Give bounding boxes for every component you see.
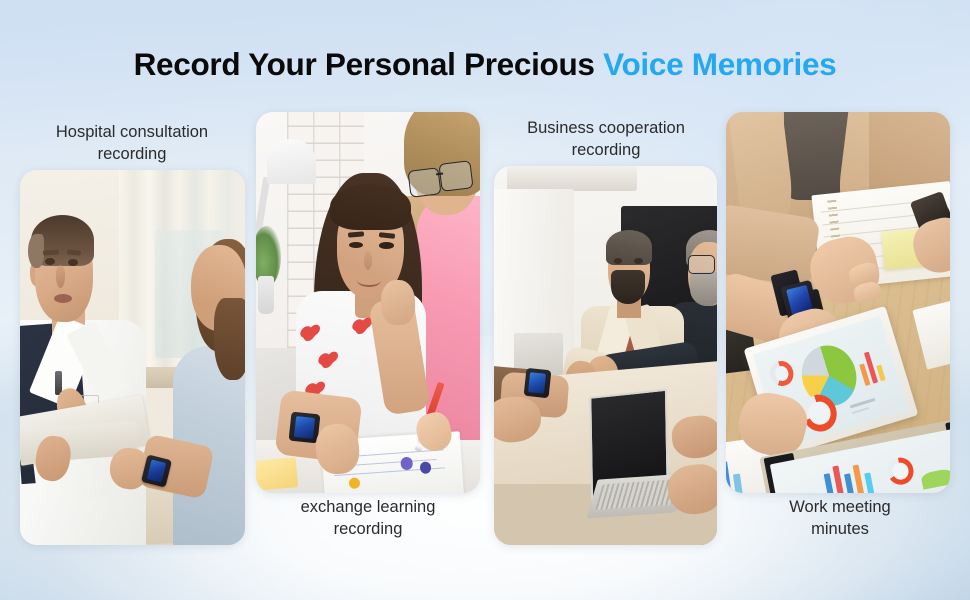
- chart-trend-line: [890, 492, 941, 493]
- doctor-eye-right: [68, 259, 78, 266]
- scene-hospital-consultation: [20, 170, 245, 545]
- notebook-sticker: [349, 477, 361, 489]
- chart-bar: [733, 473, 743, 493]
- patient-hair-back: [214, 298, 246, 381]
- chart-bar: [844, 473, 855, 493]
- student-fringe: [330, 184, 411, 230]
- desk-lamp: [267, 139, 316, 185]
- chart-bar: [726, 461, 733, 493]
- doctor-mouth: [54, 294, 72, 303]
- chart-label-line: [851, 407, 870, 415]
- caption-business: Business cooperation recording: [490, 118, 722, 162]
- doctor-eye-left: [45, 258, 55, 265]
- student-eye-left: [349, 242, 363, 248]
- chart-bar: [853, 464, 865, 493]
- smartwatch-screen: [528, 372, 546, 393]
- tutor-glasses-left-lens: [408, 167, 442, 198]
- doctor-brow-left: [42, 249, 58, 255]
- chart-bar: [876, 365, 886, 382]
- photo-card-learning: [256, 112, 480, 493]
- caption-hospital: Hospital consultation recording: [18, 122, 246, 166]
- scene-work-meeting-minutes: [726, 112, 950, 493]
- page-title-accent: Voice Memories: [603, 46, 836, 82]
- man-center-eye-right: [634, 258, 642, 264]
- doctor-sideburn: [28, 234, 44, 268]
- caption-worklog: Work meeting minutes: [726, 497, 954, 541]
- chart-bar: [864, 473, 874, 493]
- smartwatch-screen: [146, 459, 166, 482]
- sticky-notes: [256, 457, 298, 491]
- photo-card-business: [494, 166, 717, 545]
- page-title: Record Your Personal Precious Voice Memo…: [0, 49, 970, 81]
- caption-learning: exchange learning recording: [252, 497, 484, 541]
- ceiling-panel: [507, 166, 636, 191]
- chart-area-block: [921, 467, 950, 489]
- man-right-glasses: [688, 255, 715, 274]
- man-center-hair: [606, 230, 653, 264]
- student-hand: [315, 423, 361, 475]
- vase: [258, 276, 274, 314]
- photo-card-hospital: [20, 170, 245, 545]
- chart-label-line: [849, 398, 875, 409]
- scene-exchange-learning: [256, 112, 480, 493]
- student-eye-right: [379, 242, 393, 248]
- page-title-plain: Record Your Personal Precious: [134, 46, 604, 82]
- chart-bar: [833, 465, 846, 493]
- scene-business-cooperation: [494, 166, 717, 545]
- notebook-sticker: [420, 462, 432, 474]
- man-center-beard: [611, 270, 644, 304]
- tutor-glasses-right-lens: [438, 160, 473, 192]
- notebook-sticker: [400, 456, 413, 470]
- doctor-nose: [56, 265, 65, 288]
- smartwatch-screen: [293, 416, 314, 439]
- photo-card-worklog: [726, 112, 950, 493]
- smartwatch: [524, 368, 551, 399]
- man-right-beard: [690, 272, 717, 306]
- smartwatch: [288, 412, 320, 444]
- student-fist-on-chin: [381, 280, 415, 326]
- marketing-banner: Record Your Personal Precious Voice Memo…: [0, 0, 970, 600]
